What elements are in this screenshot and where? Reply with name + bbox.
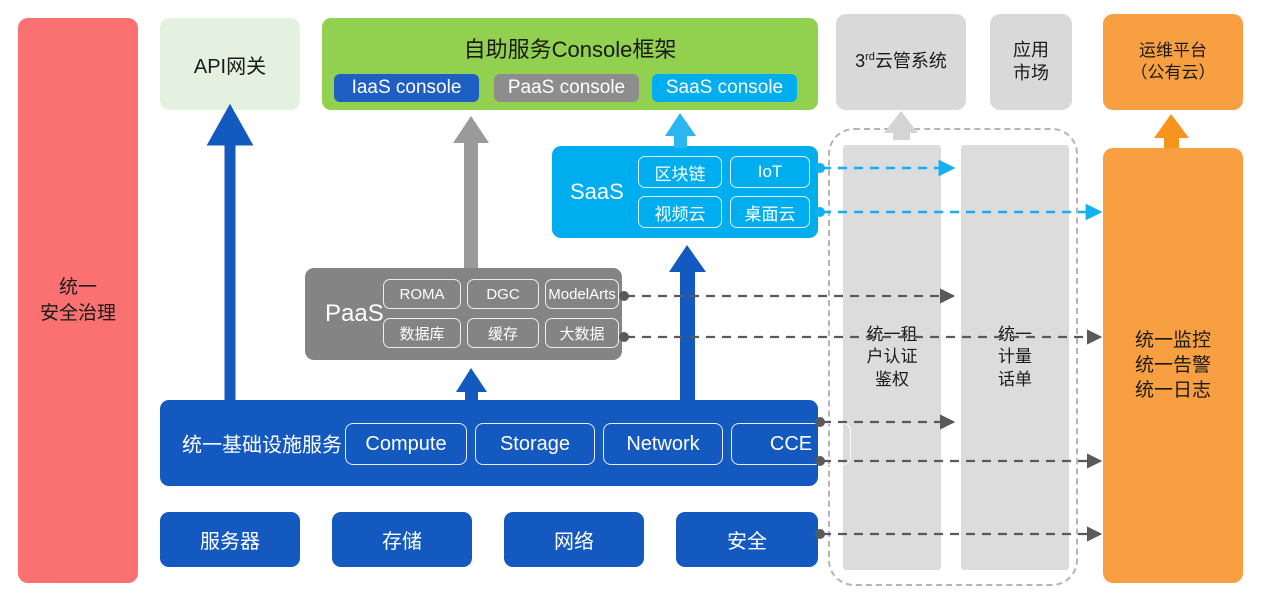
paas-tag-dgc[interactable]: DGC (467, 279, 539, 309)
iaas-console-label: IaaS console (352, 77, 462, 99)
paas-tag-modelarts[interactable]: ModelArts (545, 279, 619, 309)
self-service-console-frame[interactable]: 自助服务Console框架 IaaS console PaaS console … (322, 18, 818, 110)
metering-line2: 计量 (998, 346, 1032, 368)
hardware-item-network[interactable]: 网络 (504, 512, 644, 567)
paas-console-label: PaaS console (508, 77, 625, 99)
ops-top-line1: 运维平台 (1131, 40, 1216, 62)
app-market-line1: 应用 (1013, 39, 1049, 62)
security-label-line2: 安全治理 (40, 301, 116, 327)
ops-platform-public-cloud-box[interactable]: 运维平台 （公有云） (1103, 14, 1243, 110)
iaas-console-chip[interactable]: IaaS console (334, 74, 479, 102)
saas-tag-blockchain[interactable]: 区块链 (638, 156, 722, 188)
saas-console-up-arrow (665, 113, 696, 148)
iaas-tag-storage[interactable]: Storage (475, 423, 595, 465)
saas-layer-label: SaaS (570, 179, 624, 205)
saas-console-label: SaaS console (666, 77, 783, 99)
ops-col-line2: 统一告警 (1135, 353, 1211, 378)
tenant-auth-line1: 统一租 (867, 324, 918, 346)
ops-platform-up-arrow (1154, 114, 1189, 148)
iaas-to-paas-up-arrow (456, 368, 487, 400)
saas-tag-iot[interactable]: IoT (730, 156, 810, 188)
unified-metering-billing-column[interactable]: 统一 计量 话单 (961, 145, 1069, 570)
unified-tenant-auth-column[interactable]: 统一租 户认证 鉴权 (843, 145, 941, 570)
unified-infrastructure-service-bar[interactable]: 统一基础设施服务 Compute Storage Network CCE (160, 400, 818, 486)
paas-layer-label: PaaS (325, 300, 384, 328)
app-market-box[interactable]: 应用 市场 (990, 14, 1072, 110)
api-gateway-label: API网关 (194, 50, 266, 79)
tenant-auth-line2: 户认证 (867, 346, 918, 368)
third-party-cloud-management-box[interactable]: 3rd云管系统 (836, 14, 966, 110)
paas-console-up-arrow (453, 116, 489, 268)
saas-console-chip[interactable]: SaaS console (652, 74, 797, 102)
security-label-line1: 统一 (40, 275, 116, 301)
saas-tag-desktop-cloud[interactable]: 桌面云 (730, 196, 810, 228)
iaas-tag-network[interactable]: Network (603, 423, 723, 465)
unified-security-governance-column[interactable]: 统一 安全治理 (18, 18, 138, 583)
paas-tag-roma[interactable]: ROMA (383, 279, 461, 309)
iaas-layer-label: 统一基础设施服务 (182, 429, 342, 458)
hardware-item-storage[interactable]: 存储 (332, 512, 472, 567)
saas-layer-block[interactable]: SaaS 区块链 IoT 视频云 桌面云 (552, 146, 818, 238)
hardware-item-server[interactable]: 服务器 (160, 512, 300, 567)
tenant-auth-line3: 鉴权 (867, 369, 918, 391)
iaas-tag-cce[interactable]: CCE (731, 423, 851, 465)
metering-line1: 统一 (998, 324, 1032, 346)
saas-tag-video-cloud[interactable]: 视频云 (638, 196, 722, 228)
hardware-item-security[interactable]: 安全 (676, 512, 818, 567)
paas-tag-database[interactable]: 数据库 (383, 318, 461, 348)
ops-top-line2: （公有云） (1131, 62, 1216, 84)
iaas-tag-compute[interactable]: Compute (345, 423, 467, 465)
paas-tag-bigdata[interactable]: 大数据 (545, 318, 619, 348)
paas-console-chip[interactable]: PaaS console (494, 74, 639, 102)
api-gateway-box[interactable]: API网关 (160, 18, 300, 110)
ops-col-line3: 统一日志 (1135, 378, 1211, 403)
iaas-to-saas-up-arrow (669, 245, 706, 400)
ops-col-line1: 统一监控 (1135, 328, 1211, 353)
paas-tag-cache[interactable]: 缓存 (467, 318, 539, 348)
unified-ops-column[interactable]: 统一监控 统一告警 统一日志 (1103, 148, 1243, 583)
metering-line3: 话单 (998, 369, 1032, 391)
app-market-line2: 市场 (1013, 62, 1049, 85)
console-frame-title: 自助服务Console框架 (322, 32, 818, 64)
paas-layer-block[interactable]: PaaS ROMA DGC ModelArts 数据库 缓存 大数据 (305, 268, 622, 360)
api-gateway-up-arrow (214, 115, 246, 400)
architecture-diagram: 统一 安全治理 API网关 自助服务Console框架 IaaS console… (0, 0, 1265, 605)
third-party-label: 3rd云管系统 (855, 50, 947, 73)
